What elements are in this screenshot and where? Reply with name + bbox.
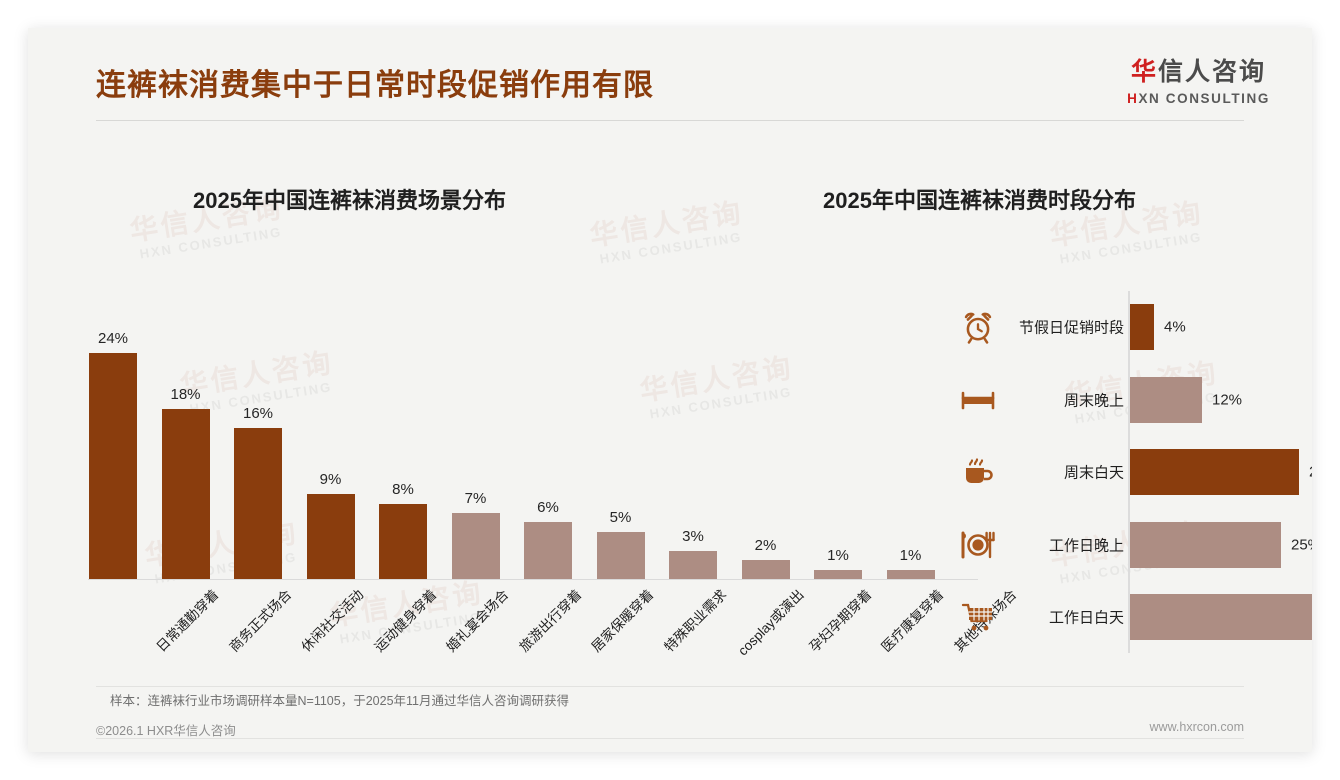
time-slot-row: 工作日晚上25%: [958, 509, 1312, 581]
bar-周末晚上[interactable]: [1130, 377, 1202, 423]
page-title: 连裤袜消费集中于日常时段促销作用有限: [96, 60, 654, 104]
bar-工作日白天[interactable]: [1130, 594, 1312, 640]
logo-english: HXN CONSULTING: [1127, 92, 1270, 106]
dinner-plate-icon: [958, 525, 998, 565]
time-slot-label: 周末晚上: [1006, 389, 1124, 410]
bar-运动健身穿着[interactable]: [307, 494, 355, 579]
bar-value-label: 3%: [663, 528, 723, 545]
bar-value-label: 2%: [736, 537, 796, 554]
left-bar-chart: 24%18%16%9%8%7%6%5%3%2%1%1%: [88, 278, 698, 588]
bar-休闲社交活动[interactable]: [234, 428, 282, 579]
time-slot-label: 工作日晚上: [1006, 534, 1124, 555]
shopping-cart-icon: [958, 597, 998, 637]
bar-value-label: 4%: [1164, 319, 1186, 336]
source-note: 样本：连裤袜行业市场调研样本量N=1105，于2025年11月通过华信人咨询调研…: [110, 690, 569, 709]
watermark: 华信人咨询 HXN CONSULTING: [588, 199, 748, 267]
logo-english-rest: XN CONSULTING: [1138, 91, 1270, 106]
bar-周末白天[interactable]: [1130, 449, 1299, 495]
logo-chinese-accent: 华: [1131, 58, 1158, 86]
time-slot-row: 节假日促销时段4%: [958, 291, 1312, 363]
logo-english-accent: H: [1127, 91, 1138, 106]
bar-value-label: 16%: [228, 405, 288, 422]
footer-copyright: ©2026.1 HXR华信人咨询: [96, 720, 236, 739]
bar-工作日晚上[interactable]: [1130, 522, 1281, 568]
time-slot-label: 节假日促销时段: [1006, 317, 1124, 338]
company-logo: 华信人咨询 HXN CONSULTING: [1127, 60, 1270, 106]
right-chart-title: 2025年中国连裤袜消费时段分布: [823, 183, 1136, 215]
coffee-mug-icon: [958, 452, 998, 492]
bar-旅游出行穿着[interactable]: [452, 513, 500, 579]
bar-cosplay或演出[interactable]: [669, 551, 717, 579]
x-axis-tick-label: 特殊职业需求: [658, 584, 729, 655]
bar-特殊职业需求[interactable]: [597, 532, 645, 579]
header-divider: [96, 120, 1244, 121]
logo-chinese: 华信人咨询: [1127, 60, 1270, 85]
watermark-cn: 华信人咨询: [588, 199, 745, 251]
watermark-en: HXN CONSULTING: [1059, 229, 1208, 265]
x-axis-tick-label: 医疗康复穿着: [876, 584, 947, 655]
footer-website: www.hxrcon.com: [1150, 720, 1244, 734]
bar-value-label: 9%: [301, 471, 361, 488]
watermark-en: HXN CONSULTING: [139, 224, 288, 260]
x-axis-tick-label: 商务正式场合: [223, 584, 294, 655]
bar-居家保暖穿着[interactable]: [524, 522, 572, 579]
x-axis-tick-label: 运动健身穿着: [368, 584, 439, 655]
bar-节假日促销时段[interactable]: [1130, 304, 1154, 350]
left-chart-title: 2025年中国连裤袜消费场景分布: [193, 183, 506, 215]
bar-孕妇孕期穿着[interactable]: [742, 560, 790, 579]
bed-icon: [958, 380, 998, 420]
time-slot-label: 工作日白天: [1006, 607, 1124, 628]
x-axis-tick-label: 居家保暖穿着: [586, 584, 657, 655]
slide-header: 连裤袜消费集中于日常时段促销作用有限 华信人咨询 HXN CONSULTING: [28, 28, 1312, 118]
alarm-clock-icon: [958, 307, 998, 347]
time-slot-row: 周末白天28%: [958, 436, 1312, 508]
bar-value-label: 5%: [591, 509, 651, 526]
source-divider: [96, 686, 1244, 687]
bar-value-label: 12%: [1212, 391, 1242, 408]
watermark-en: HXN CONSULTING: [599, 229, 748, 265]
bar-其他特殊场合[interactable]: [887, 570, 935, 579]
x-axis-tick-label: 日常通勤穿着: [151, 584, 222, 655]
bar-value-label: 1%: [808, 547, 868, 564]
bar-医疗康复穿着[interactable]: [814, 570, 862, 579]
bar-日常通勤穿着[interactable]: [89, 353, 137, 579]
bar-value-label: 6%: [518, 499, 578, 516]
footer-divider: [96, 738, 1244, 739]
x-axis-tick-label: 孕妇孕期穿着: [803, 584, 874, 655]
time-slot-row: 工作日白天31%: [958, 581, 1312, 653]
bar-value-label: 18%: [156, 386, 216, 403]
bar-value-label: 1%: [881, 547, 941, 564]
bar-value-label: 28%: [1309, 464, 1312, 481]
bar-value-label: 25%: [1291, 536, 1312, 553]
bar-婚礼宴会场合[interactable]: [379, 504, 427, 579]
bar-value-label: 24%: [83, 330, 143, 347]
slide-canvas: 华信人咨询 HXN CONSULTING 华信人咨询 HXN CONSULTIN…: [28, 28, 1312, 752]
bar-value-label: 7%: [446, 490, 506, 507]
logo-chinese-rest: 信人咨询: [1158, 58, 1266, 86]
x-axis-tick-label: 旅游出行穿着: [513, 584, 584, 655]
bar-value-label: 8%: [373, 481, 433, 498]
x-axis-tick-label: 休闲社交活动: [296, 584, 367, 655]
bar-商务正式场合[interactable]: [162, 409, 210, 579]
x-axis-tick-label: 婚礼宴会场合: [441, 584, 512, 655]
x-axis-tick-label: cosplay或演出: [732, 584, 807, 659]
time-slot-row: 周末晚上12%: [958, 364, 1312, 436]
time-slot-label: 周末白天: [1006, 462, 1124, 483]
